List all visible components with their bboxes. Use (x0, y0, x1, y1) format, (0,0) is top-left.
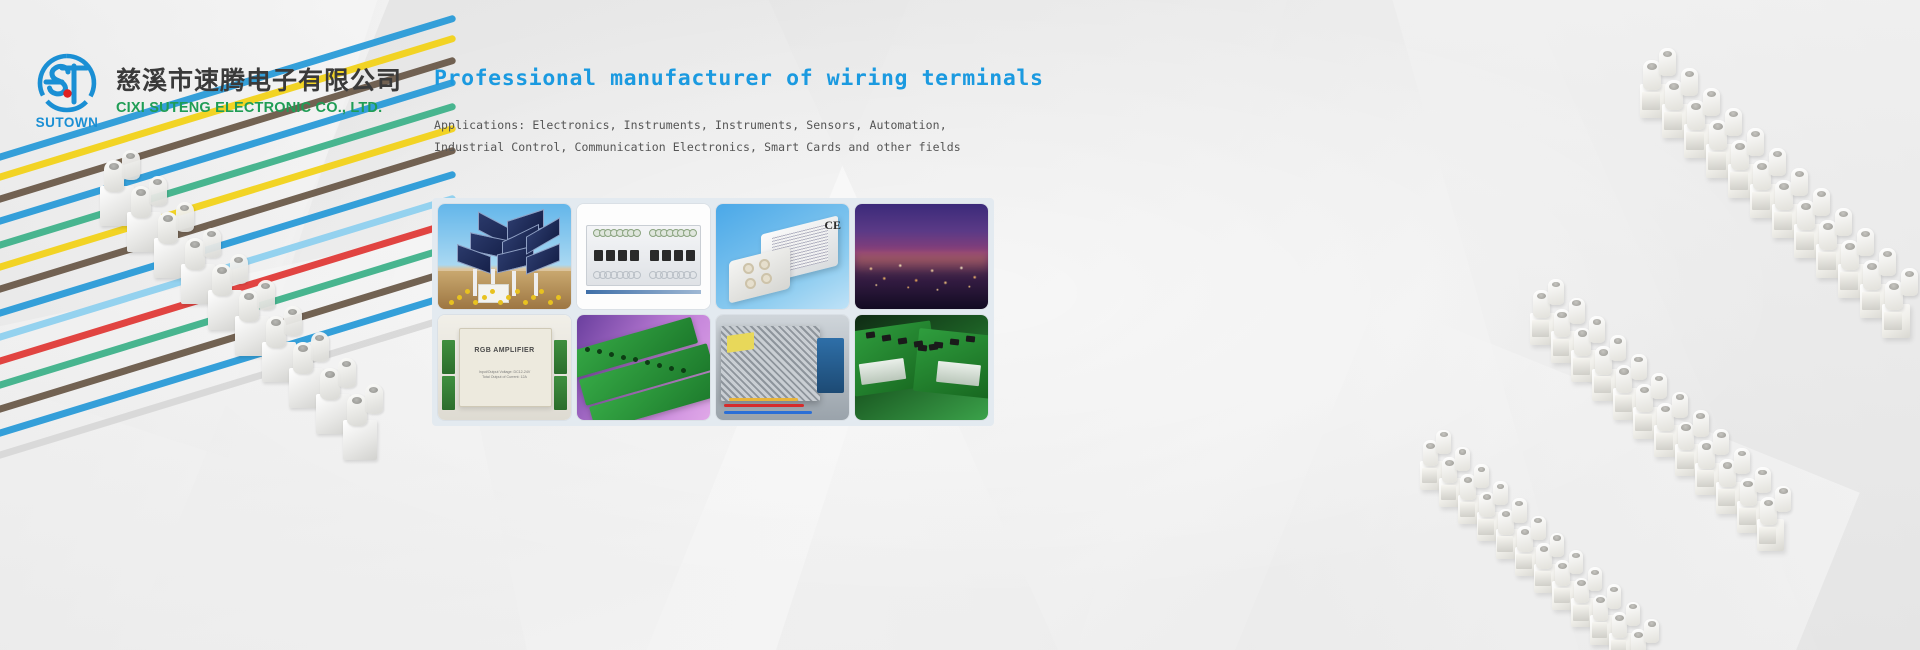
gallery-tile-pcb-assembly[interactable] (855, 315, 988, 420)
gallery-tile-switching-power-supply[interactable] (716, 315, 849, 420)
hero-description-line-1: Applications: Electronics, Instruments, … (434, 114, 1043, 136)
gallery-tile-electronic-ballast[interactable]: CE (716, 204, 849, 309)
terminal-block-with-wires-photo (0, 120, 450, 540)
company-name-cn: 慈溪市速腾电子有限公司 (116, 67, 402, 95)
company-names: 慈溪市速腾电子有限公司 CIXI SUTENG ELECTRONIC CO., … (116, 65, 402, 116)
hero-headline: Professional manufacturer of wiring term… (434, 66, 1043, 92)
gallery-tile-rgb-amplifier[interactable]: RGB AMPLIFIERInput/Output Voltage: DC12-… (438, 315, 571, 420)
gallery-tile-city-night-skyline[interactable] (855, 204, 988, 309)
gallery-tile-din-rail-controller[interactable] (577, 204, 710, 309)
hero-banner: SUTOWN 慈溪市速腾电子有限公司 CIXI SUTENG ELECTRONI… (0, 0, 1920, 650)
hero-description-line-2: Industrial Control, Communication Electr… (434, 136, 1043, 158)
rgb-amplifier-label: RGB AMPLIFIER (438, 347, 571, 354)
rgb-amplifier-sublabel: Input/Output Voltage: DC12-24VTotal Outp… (438, 370, 571, 381)
hero-copy: Professional manufacturer of wiring term… (434, 66, 1043, 159)
gallery-tile-solar-array[interactable] (438, 204, 571, 309)
hero-description: Applications: Electronics, Instruments, … (434, 114, 1043, 159)
company-name-en: CIXI SUTENG ELECTRONIC CO., LTD. (116, 100, 402, 116)
logo-wordmark: SUTOWN (32, 116, 102, 130)
brand-logo-block[interactable]: SUTOWN 慈溪市速腾电子有限公司 CIXI SUTENG ELECTRONI… (32, 52, 402, 128)
gallery-tile-pcb-terminal-blocks[interactable] (577, 315, 710, 420)
ce-mark-label: CE (824, 218, 841, 233)
terminal-strip-trio-photo (1390, 40, 1920, 620)
application-gallery: CERGB AMPLIFIERInput/Output Voltage: DC1… (432, 198, 994, 426)
st-monogram-icon: SUTOWN (32, 52, 102, 128)
